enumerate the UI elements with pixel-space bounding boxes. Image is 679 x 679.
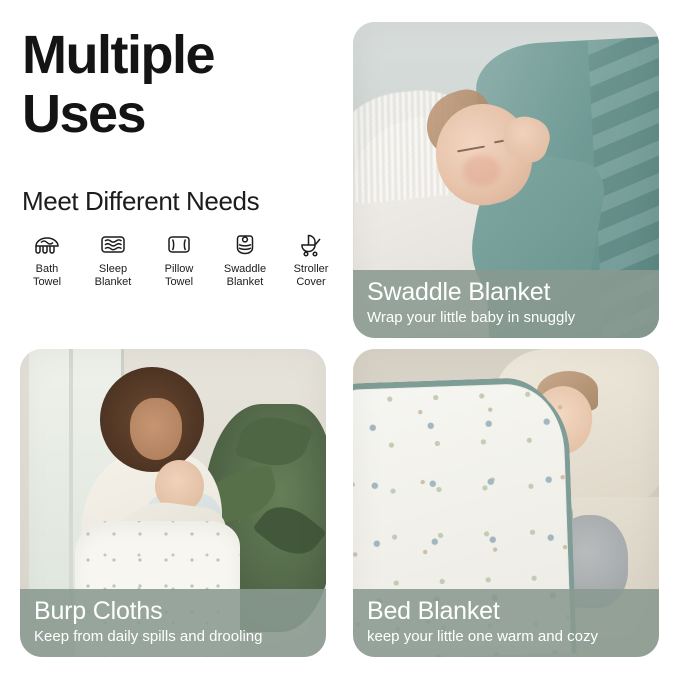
- card-burp-cloths: Burp Cloths Keep from daily spills and d…: [20, 349, 326, 657]
- stroller-cover-icon: [278, 228, 344, 260]
- card-swaddle-blanket: Swaddle Blanket Wrap your little baby in…: [353, 22, 659, 338]
- card-bed-blanket: Bed Blanket keep your little one warm an…: [353, 349, 659, 657]
- card-title: Bed Blanket: [367, 597, 645, 625]
- feature-label: Stroller Cover: [278, 263, 344, 289]
- feature-icon-row: Bath Towel Sleep Blanket: [14, 228, 344, 289]
- feature-sleep-blanket: Sleep Blanket: [80, 228, 146, 289]
- feature-swaddle-blanket: Swaddle Blanket: [212, 228, 278, 289]
- feature-label-line2: Cover: [296, 276, 325, 288]
- feature-label-line2: Blanket: [95, 276, 132, 288]
- feature-label: Swaddle Blanket: [212, 263, 278, 289]
- feature-label-line1: Sleep: [99, 263, 127, 275]
- card-caption: Swaddle Blanket Wrap your little baby in…: [353, 270, 659, 338]
- sleep-blanket-icon: [80, 228, 146, 260]
- feature-label: Sleep Blanket: [80, 263, 146, 289]
- card-caption: Bed Blanket keep your little one warm an…: [353, 589, 659, 657]
- headline-line-1: Multiple: [22, 25, 214, 85]
- bath-towel-icon: [14, 228, 80, 260]
- card-subtitle: Wrap your little baby in snuggly: [367, 309, 645, 326]
- card-title: Swaddle Blanket: [367, 278, 645, 306]
- baby-cheek: [463, 155, 500, 187]
- feature-label-line2: Towel: [165, 276, 193, 288]
- card-title: Burp Cloths: [34, 597, 312, 625]
- feature-label-line1: Bath: [36, 263, 59, 275]
- feature-pillow-towel: Pillow Towel: [146, 228, 212, 289]
- page-subtitle: Meet Different Needs: [22, 186, 352, 217]
- card-caption: Burp Cloths Keep from daily spills and d…: [20, 589, 326, 657]
- card-subtitle: keep your little one warm and cozy: [367, 628, 645, 645]
- feature-label-line1: Pillow: [165, 263, 194, 275]
- swaddle-blanket-icon: [212, 228, 278, 260]
- card-subtitle: Keep from daily spills and drooling: [34, 628, 312, 645]
- feature-label-line1: Swaddle: [224, 263, 266, 275]
- window-mullion: [69, 349, 73, 614]
- feature-label: Pillow Towel: [146, 263, 212, 289]
- mother-face: [130, 398, 182, 460]
- feature-label-line2: Blanket: [227, 276, 264, 288]
- product-infographic: Multiple Uses Meet Different Needs Bath …: [0, 0, 679, 679]
- feature-label: Bath Towel: [14, 263, 80, 289]
- feature-stroller-cover: Stroller Cover: [278, 228, 344, 289]
- page-title: Multiple Uses: [22, 26, 332, 145]
- pillow-towel-icon: [146, 228, 212, 260]
- feature-label-line1: Stroller: [294, 263, 329, 275]
- feature-bath-towel: Bath Towel: [14, 228, 80, 289]
- headline-line-2: Uses: [22, 85, 332, 144]
- feature-label-line2: Towel: [33, 276, 61, 288]
